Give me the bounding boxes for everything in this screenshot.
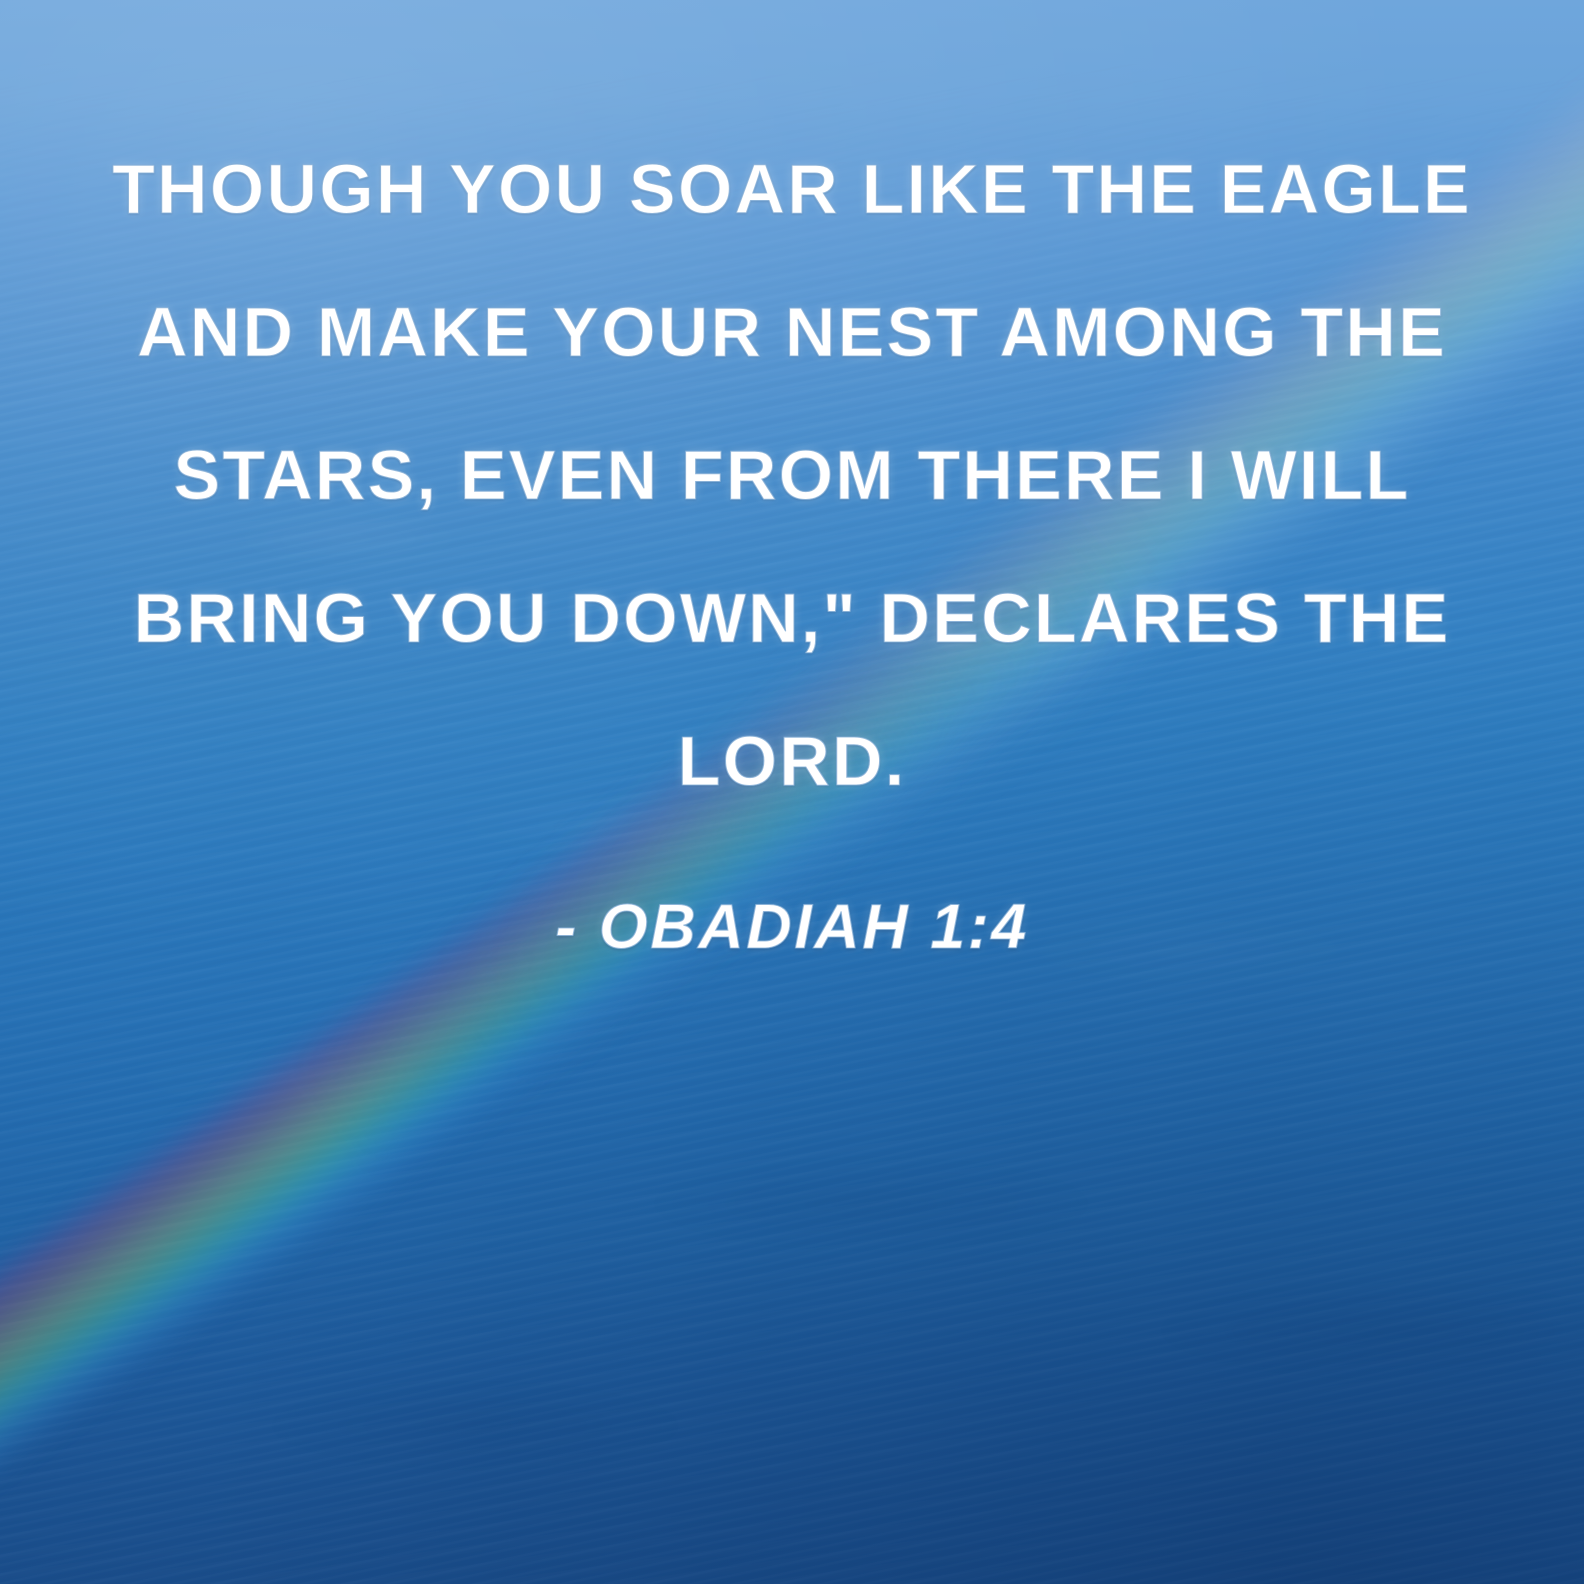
verse-line-4: BRING YOU DOWN," DECLARES THE (104, 547, 1480, 690)
verse-text-block: THOUGH YOU SOAR LIKE THE EAGLE AND MAKE … (0, 118, 1584, 963)
verse-line-2: AND MAKE YOUR NEST AMONG THE (104, 261, 1480, 404)
scripture-image-canvas: THOUGH YOU SOAR LIKE THE EAGLE AND MAKE … (0, 0, 1584, 1584)
verse-line-1: THOUGH YOU SOAR LIKE THE EAGLE (104, 118, 1480, 261)
verse-line-3: STARS, EVEN FROM THERE I WILL (104, 404, 1480, 547)
verse-attribution: - OBADIAH 1:4 (104, 891, 1480, 963)
verse-line-5: LORD. (104, 690, 1480, 833)
